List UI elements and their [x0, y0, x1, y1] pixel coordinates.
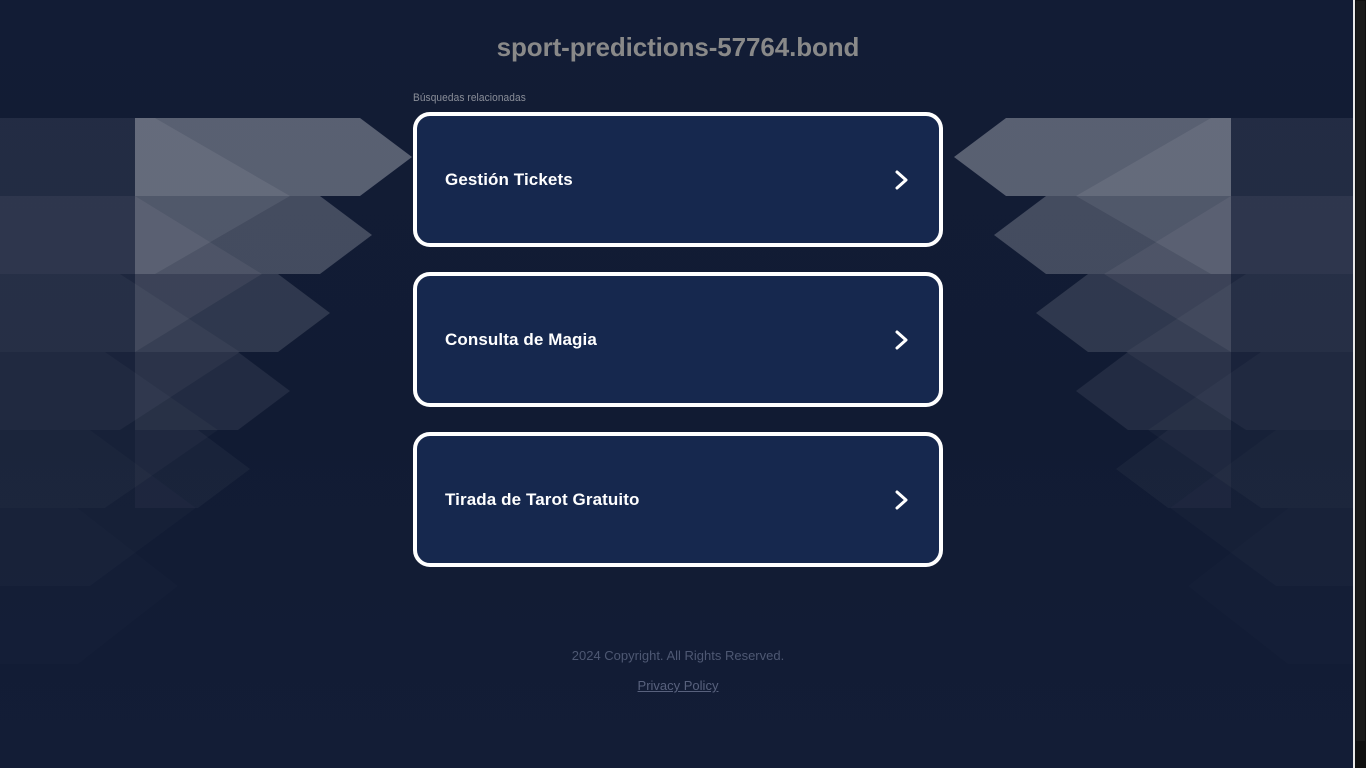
page-title: sport-predictions-57764.bond — [0, 31, 1356, 63]
scrollbar-thumb[interactable] — [1356, 1, 1365, 741]
parked-domain-page: sport-predictions-57764.bond Búsquedas r… — [0, 0, 1366, 768]
related-link-card[interactable]: Gestión Tickets — [413, 112, 943, 247]
chevron-right-icon — [889, 168, 913, 192]
chevron-right-icon — [889, 488, 913, 512]
page-footer: 2024 Copyright. All Rights Reserved. Pri… — [0, 646, 1356, 696]
related-link-label: Tirada de Tarot Gratuito — [445, 490, 639, 510]
copyright-text: 2024 Copyright. All Rights Reserved. — [0, 646, 1356, 666]
vertical-scrollbar[interactable] — [1355, 0, 1366, 768]
related-link-card[interactable]: Tirada de Tarot Gratuito — [413, 432, 943, 567]
privacy-policy-row: Privacy Policy — [0, 676, 1356, 696]
related-searches-label: Búsquedas relacionadas — [413, 91, 526, 105]
chevron-right-icon — [889, 328, 913, 352]
related-link-label: Consulta de Magia — [445, 330, 597, 350]
privacy-policy-link[interactable]: Privacy Policy — [638, 678, 719, 693]
related-link-label: Gestión Tickets — [445, 170, 573, 190]
related-link-card[interactable]: Consulta de Magia — [413, 272, 943, 407]
related-links-list: Gestión Tickets Consulta de Magia Tirada… — [413, 112, 943, 592]
